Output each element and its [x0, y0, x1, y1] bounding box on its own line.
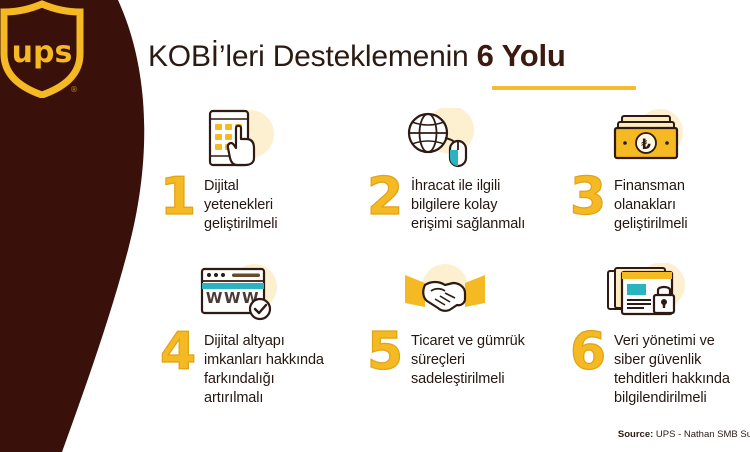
infographic-canvas: ups ® KOBİ’leri Desteklemenin 6 Yolu	[0, 0, 750, 452]
source-label: Source:	[618, 429, 653, 440]
item-label: Dijital yetenekleri geliştirilmeli	[204, 172, 278, 234]
list-item: 5 Ticaret ve gümrük süreçleri sadeleştir…	[367, 263, 567, 389]
title-underline	[492, 86, 636, 90]
list-item: WWW 4 Dijital altyapı imkanları hakkında…	[160, 263, 360, 407]
tablet-touch-icon	[188, 108, 308, 170]
list-item: 6 Veri yönetimi ve siber güvenlik tehdit…	[570, 263, 750, 407]
item-label: Ticaret ve gümrük süreçleri sadeleştiril…	[411, 327, 525, 389]
item-label: Veri yönetimi ve siber güvenlik tehditle…	[614, 327, 730, 407]
browser-www-check-icon: WWW	[188, 263, 308, 325]
ups-shield-logo: ups ®	[0, 0, 84, 98]
globe-mouse-icon	[395, 108, 515, 170]
source-note: Source: UPS - Nathan SMB Su	[618, 429, 750, 440]
list-item: 1 Dijital yetenekleri geliştirilmeli	[160, 108, 360, 234]
list-item: ₺ 3 Finansman olanakları geliştirilmeli	[570, 108, 750, 234]
item-number: 3	[570, 174, 614, 222]
item-number: 6	[570, 329, 614, 377]
item-label: Finansman olanakları geliştirilmeli	[614, 172, 688, 234]
item-number: 4	[160, 329, 204, 377]
registered-mark: ®	[70, 85, 78, 94]
ups-logo-text: ups	[12, 35, 73, 70]
item-label: Dijital altyapı imkanları hakkında farkı…	[204, 327, 324, 407]
list-item: 2 İhracat ile ilgili bilgilere kolay eri…	[367, 108, 567, 234]
banknote-lira-icon: ₺	[598, 108, 718, 170]
source-value: UPS - Nathan SMB Su	[653, 429, 750, 440]
item-number: 5	[367, 329, 411, 377]
page-title-regular: KOBİ’leri Desteklemenin	[148, 40, 477, 73]
page-title: KOBİ’leri Desteklemenin 6 Yolu	[148, 38, 708, 84]
item-label: İhracat ile ilgili bilgilere kolay erişi…	[411, 172, 525, 234]
item-number: 2	[367, 174, 411, 222]
documents-lock-icon	[598, 263, 718, 325]
svg-text:₺: ₺	[641, 137, 651, 153]
page-title-bold: 6 Yolu	[477, 38, 566, 73]
item-number: 1	[160, 174, 204, 222]
handshake-icon	[395, 263, 515, 325]
items-grid: 1 Dijital yetenekleri geliştirilmeli	[160, 108, 750, 418]
